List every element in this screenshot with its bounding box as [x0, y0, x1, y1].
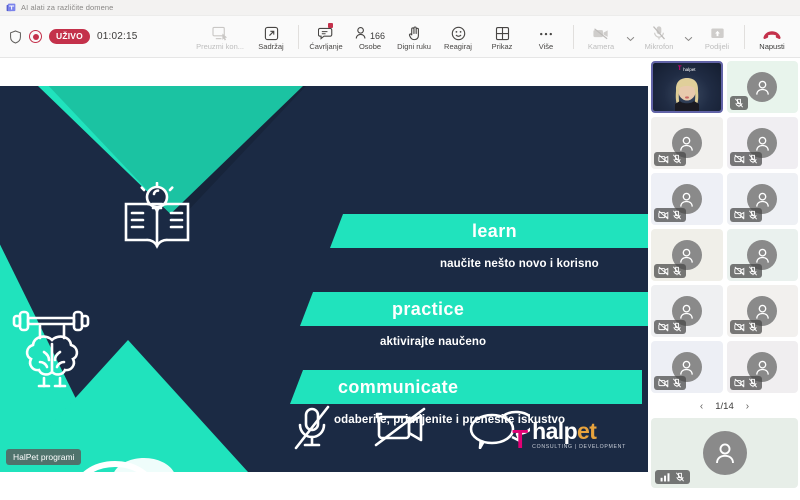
view-grid-icon: [495, 24, 510, 41]
self-video-person: [670, 77, 704, 111]
microphone-label: Mikrofon: [645, 42, 674, 51]
mic-off-icon: [734, 98, 744, 108]
share-label: Podijeli: [705, 42, 729, 51]
halpet-logo: T halpet CONSULTING | DEVELOPMENT: [512, 421, 626, 450]
mic-off-icon: [672, 322, 682, 332]
camera-off-icon: [734, 210, 745, 220]
chat-label: Ćavrljanje: [309, 42, 342, 51]
chevron-left-icon[interactable]: ‹: [700, 401, 703, 412]
meeting-stage: learn naučite nešto novo i korisno pract…: [0, 58, 800, 500]
camera-off-icon: [734, 266, 745, 276]
mic-off-icon: [652, 24, 666, 41]
title-bar: AI alati za različite domene: [0, 0, 800, 16]
raise-hand-button[interactable]: Digni ruku: [392, 23, 436, 51]
raise-hand-icon: [408, 24, 421, 41]
toolbar-divider-2: [573, 25, 574, 49]
participant-tile[interactable]: [727, 229, 799, 281]
chat-notification-badge: [328, 23, 333, 28]
participant-tile[interactable]: [651, 341, 723, 393]
mic-off-icon: [672, 210, 682, 220]
participant-tile[interactable]: [651, 117, 723, 169]
chat-icon: [318, 24, 335, 41]
mic-off-icon: [748, 266, 758, 276]
self-video-tile[interactable]: Thalpet: [651, 61, 723, 113]
mic-off-icon: [748, 378, 758, 388]
participant-status-chips: [654, 152, 686, 166]
mic-off-outline-icon: [292, 404, 332, 450]
self-video-logo: Thalpet: [678, 66, 696, 72]
reactions-icon: [451, 24, 466, 41]
content-share-label: Sadržaj: [258, 42, 283, 51]
camera-off-outline-icon: [374, 406, 426, 448]
banner-learn-title: learn: [344, 221, 517, 242]
shared-content-slide[interactable]: learn naučite nešto novo i korisno pract…: [0, 86, 648, 472]
reactions-button[interactable]: Reagiraj: [436, 23, 480, 51]
share-screen-icon: [710, 24, 725, 41]
participant-gallery: Thalpet: [648, 58, 800, 500]
banner-communicate: communicate: [290, 370, 642, 404]
spotlight-participant-tile[interactable]: [651, 418, 798, 488]
halpet-logo-text: halpet CONSULTING | DEVELOPMENT: [532, 421, 626, 450]
camera-off-icon: [734, 154, 745, 164]
camera-label: Kamera: [588, 42, 614, 51]
self-video-feed: Thalpet: [653, 63, 721, 111]
participant-tile[interactable]: [727, 117, 799, 169]
banner-learn-subtitle: naučite nešto novo i korisno: [290, 258, 648, 270]
halpet-logo-tagline: CONSULTING | DEVELOPMENT: [532, 444, 626, 450]
participant-status-chips: [654, 208, 686, 222]
person-avatar: [747, 72, 777, 102]
participant-tile[interactable]: [727, 285, 799, 337]
camera-off-icon: [658, 266, 669, 276]
halpet-logo-name: halpet: [532, 421, 626, 443]
live-badge: UŽIVO: [49, 29, 90, 44]
participant-status-chips: [730, 96, 748, 110]
record-dot-icon[interactable]: [29, 30, 42, 43]
presenter-name-badge: HalPet programi: [6, 449, 81, 465]
book-lightbulb-icon: [118, 182, 196, 254]
person-avatar: [703, 431, 747, 475]
camera-off-icon: [734, 322, 745, 332]
gallery-pager: ‹ 1/14 ›: [651, 398, 798, 414]
spotlight-status-chips: [655, 470, 690, 484]
view-label: Prikaz: [492, 42, 513, 51]
camera-off-icon: [734, 378, 745, 388]
slide-bottom-icon-row: [292, 404, 530, 450]
microphone-button[interactable]: Mikrofon: [637, 23, 681, 51]
mic-off-icon: [748, 210, 758, 220]
camera-off-icon: [658, 210, 669, 220]
camera-off-icon: [658, 322, 669, 332]
participant-tile[interactable]: [651, 285, 723, 337]
camera-off-icon: [658, 378, 669, 388]
more-button[interactable]: Više: [524, 23, 568, 51]
share-button[interactable]: Podijeli: [695, 23, 739, 51]
people-count: 166: [370, 31, 385, 41]
participant-status-chips: [654, 376, 686, 390]
participant-tile[interactable]: [727, 173, 799, 225]
take-control-icon: [212, 24, 229, 41]
banner-learn: learn: [330, 214, 648, 248]
gallery-page-label: 1/14: [715, 401, 734, 412]
meeting-timer: 01:02:15: [97, 31, 138, 42]
people-label: Osobe: [359, 42, 381, 51]
participant-status-chips: [730, 264, 762, 278]
brain-dumbbell-icon: [10, 304, 94, 398]
mic-off-icon: [675, 472, 685, 482]
mic-off-icon: [672, 378, 682, 388]
people-button[interactable]: 166 Osobe: [348, 23, 392, 51]
banner-practice-title: practice: [314, 299, 464, 320]
more-ellipsis-icon: [538, 24, 554, 41]
participant-status-chips: [730, 376, 762, 390]
content-share-button[interactable]: Sadržaj: [249, 23, 293, 51]
participant-status-chips: [730, 320, 762, 334]
banner-communicate-title: communicate: [304, 377, 458, 398]
mic-off-icon: [748, 154, 758, 164]
shield-icon[interactable]: [9, 30, 22, 44]
more-label: Više: [539, 42, 553, 51]
speech-bubbles-icon: [70, 454, 180, 472]
leave-label: Napusti: [759, 42, 784, 51]
view-button[interactable]: Prikaz: [480, 23, 524, 51]
signal-bars-icon: [660, 472, 671, 482]
participant-status-chips: [654, 264, 686, 278]
mic-off-icon: [748, 322, 758, 332]
participant-tile[interactable]: [651, 173, 723, 225]
camera-button[interactable]: Kamera: [579, 23, 623, 51]
tmobile-t-mark: T: [512, 429, 527, 450]
camera-off-icon: [658, 154, 669, 164]
banner-practice: practice: [300, 292, 648, 326]
participant-tile[interactable]: [727, 341, 799, 393]
chevron-right-icon[interactable]: ›: [746, 401, 749, 412]
mic-off-icon: [672, 154, 682, 164]
toolbar-actions: Preuzmi kon... Sadržaj: [191, 23, 800, 51]
toolbar-divider: [298, 25, 299, 49]
raise-hand-label: Digni ruku: [397, 42, 431, 51]
reactions-label: Reagiraj: [444, 42, 472, 51]
window-title: AI alati za različite domene: [21, 3, 113, 12]
teams-app-icon: [6, 3, 16, 13]
participant-status-chips: [654, 320, 686, 334]
participant-status-chips: [730, 152, 762, 166]
participant-tile[interactable]: [651, 229, 723, 281]
content-share-icon: [264, 24, 279, 41]
camera-chevron-down-icon[interactable]: [623, 32, 637, 42]
participant-status-chips: [730, 208, 762, 222]
people-icon: 166: [355, 24, 385, 41]
take-control-button[interactable]: Preuzmi kon...: [191, 23, 249, 51]
meeting-toolbar: UŽIVO 01:02:15 Preuzmi kon...: [0, 16, 800, 58]
meeting-status-group: UŽIVO 01:02:15: [0, 29, 138, 44]
camera-off-icon: [592, 24, 610, 41]
participant-grid: Thalpet: [651, 61, 798, 393]
take-control-label: Preuzmi kon...: [196, 42, 244, 51]
banner-practice-subtitle: aktivirajte naučeno: [290, 336, 648, 348]
hangup-icon: [762, 24, 782, 41]
participant-tile[interactable]: [727, 61, 799, 113]
mic-off-icon: [672, 266, 682, 276]
teams-meeting-window: AI alati za različite domene UŽIVO 01:02…: [0, 0, 800, 500]
microphone-chevron-down-icon[interactable]: [681, 32, 695, 42]
chat-button[interactable]: Ćavrljanje: [304, 23, 348, 51]
toolbar-divider-3: [744, 25, 745, 49]
leave-button[interactable]: Napusti: [750, 23, 794, 51]
